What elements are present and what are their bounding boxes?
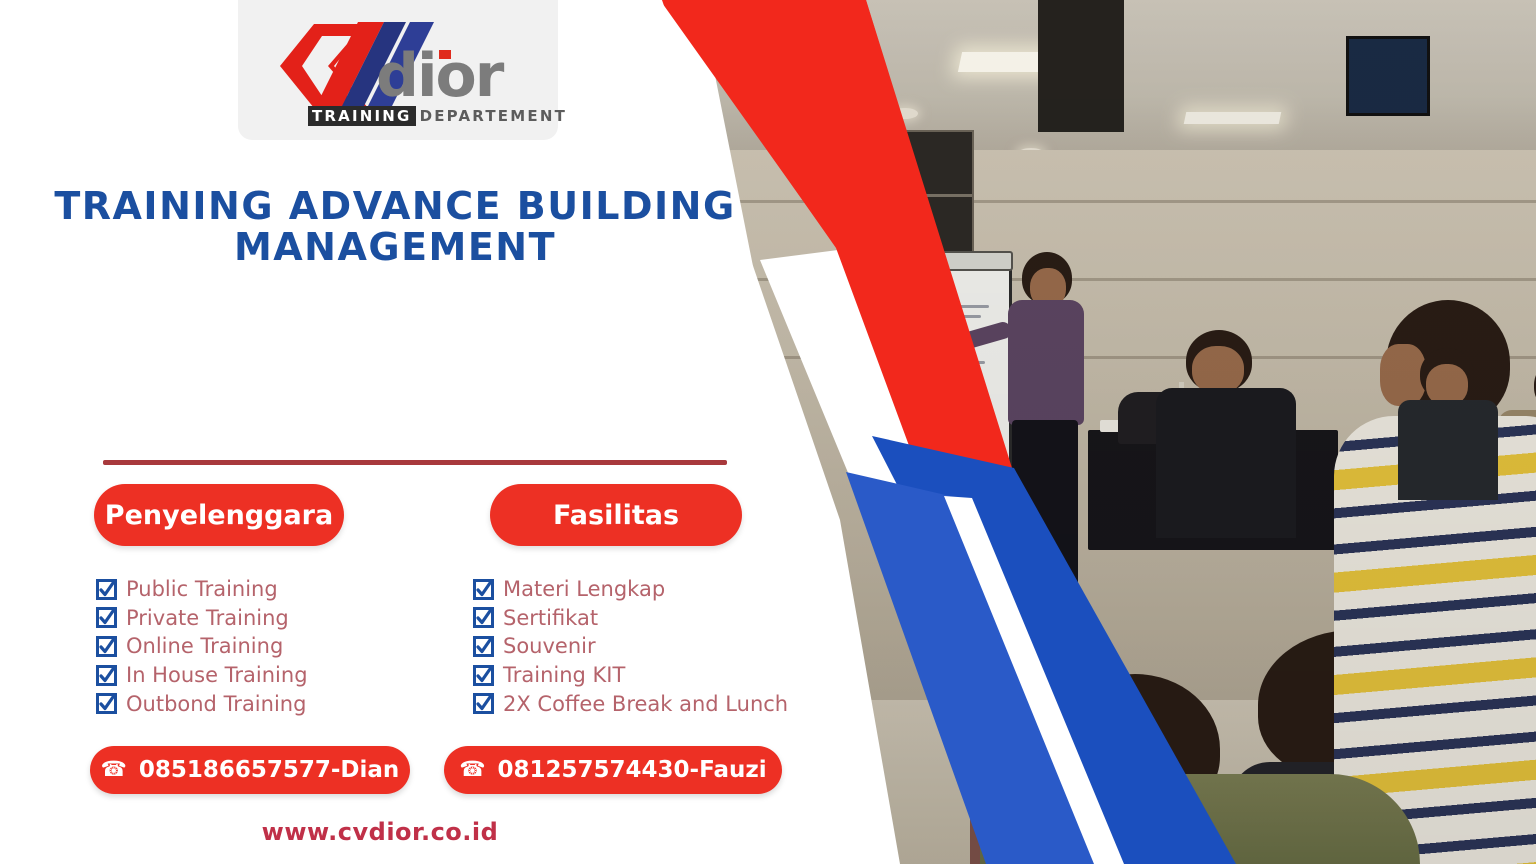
instructor [1000, 252, 1090, 652]
organizer-pill[interactable]: Penyelenggara [94, 484, 344, 546]
logo-subtitle-training: TRAINING [308, 106, 416, 126]
list-item: Public Training [96, 575, 308, 604]
logo-subtitle-departement: DEPARTEMENT [420, 107, 567, 125]
checkbox-checked-icon [96, 693, 117, 714]
list-item: Training KIT [473, 661, 788, 690]
facilities-list: Materi Lengkap Sertifikat [473, 575, 788, 718]
list-item: In House Training [96, 661, 308, 690]
section-divider [103, 460, 727, 465]
checkbox-checked-icon [96, 636, 117, 657]
checkbox-checked-icon [473, 607, 494, 628]
list-item-label: Souvenir [503, 634, 596, 658]
checkbox-checked-icon [473, 636, 494, 657]
list-item-label: Online Training [126, 634, 283, 658]
ceiling-light [1184, 112, 1282, 124]
logo-subtitle: TRAINING DEPARTEMENT [308, 106, 567, 126]
list-item-label: Materi Lengkap [503, 577, 665, 601]
list-item-label: Public Training [126, 577, 278, 601]
content-column: dior TRAINING DEPARTEMENT TRAINING ADVAN… [0, 0, 820, 864]
checkbox-checked-icon [96, 607, 117, 628]
downlight [892, 108, 918, 119]
checkbox-checked-icon [96, 579, 117, 600]
logo-accent-dot [439, 50, 451, 59]
list-item: Souvenir [473, 632, 788, 661]
list-item-label: Private Training [126, 606, 289, 630]
list-item: Outbond Training [96, 689, 308, 718]
list-item: Sertifikat [473, 604, 788, 633]
list-item-label: Sertifikat [503, 606, 598, 630]
checkbox-checked-icon [96, 665, 117, 686]
list-item: Private Training [96, 604, 308, 633]
contact-button-fauzi[interactable]: ☎ 081257574430-Fauzi [444, 746, 782, 794]
participant-dark-shirt [1160, 330, 1290, 530]
facilities-pill[interactable]: Fasilitas [490, 484, 742, 546]
list-item: 2X Coffee Break and Lunch [473, 689, 788, 718]
participant-back-left [1400, 348, 1496, 498]
page-title: TRAINING ADVANCE BUILDING MANAGEMENT [0, 186, 790, 268]
phone-icon: ☎ [101, 759, 127, 780]
checkbox-checked-icon [473, 579, 494, 600]
website-url[interactable]: www.cvdior.co.id [0, 818, 760, 846]
list-item: Online Training [96, 632, 308, 661]
checkbox-checked-icon [473, 693, 494, 714]
list-item: Materi Lengkap [473, 575, 788, 604]
wall-monitor [1346, 36, 1430, 116]
list-item-label: Training KIT [503, 663, 625, 687]
contact-number: 085186657577-Dian [139, 757, 399, 783]
logo-card: dior TRAINING DEPARTEMENT [238, 0, 558, 140]
organizer-list: Public Training Private Training [96, 575, 308, 718]
dark-panel [1038, 0, 1124, 132]
dark-window [840, 130, 974, 264]
participant-olive-jacket: ciss [990, 700, 1410, 864]
list-item-label: In House Training [126, 663, 308, 687]
flipchart [898, 258, 1012, 499]
poster-root: ciss [0, 0, 1536, 864]
phone-icon: ☎ [459, 759, 485, 780]
list-item-label: 2X Coffee Break and Lunch [503, 692, 788, 716]
checkbox-checked-icon [473, 665, 494, 686]
list-item-label: Outbond Training [126, 692, 306, 716]
ciss-jacket-logo: ciss [1142, 808, 1193, 838]
contact-button-dian[interactable]: ☎ 085186657577-Dian [90, 746, 410, 794]
contact-number: 081257574430-Fauzi [498, 757, 767, 783]
